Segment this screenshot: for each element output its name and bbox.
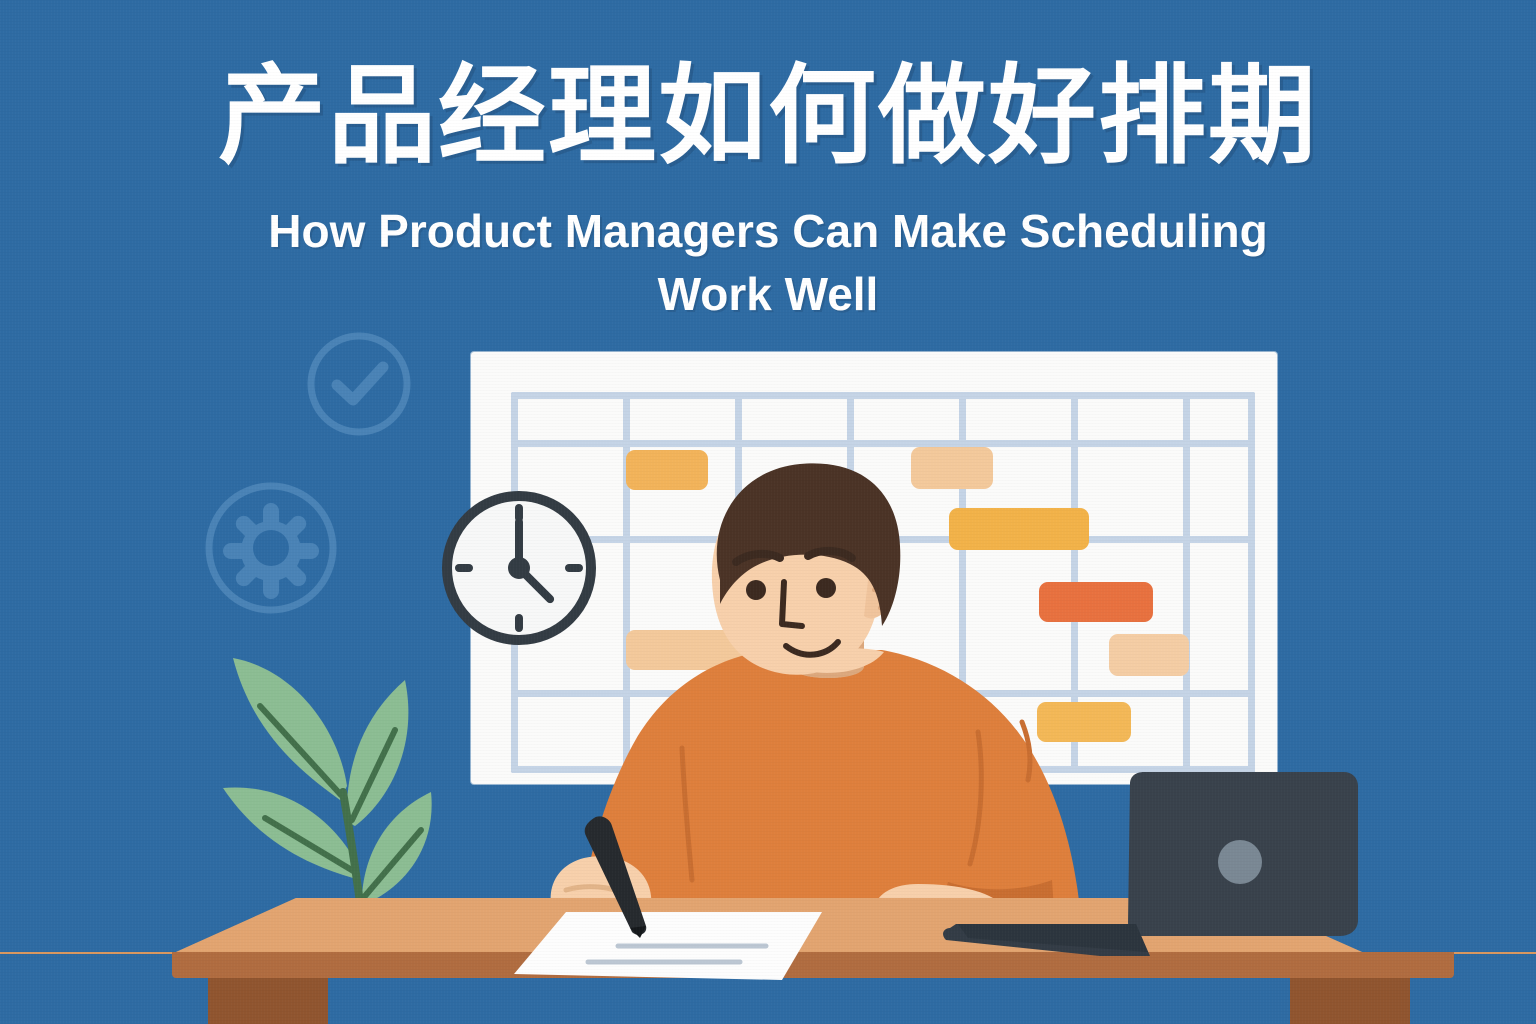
poster-canvas: 产品经理如何做好排期 How Product Managers Can Make… <box>0 0 1536 1024</box>
subtitle-line-2: Work Well <box>150 263 1386 326</box>
desk-leg-right <box>1290 978 1410 1024</box>
grid-col-line <box>1183 392 1190 773</box>
page-subtitle-english: How Product Managers Can Make Scheduling… <box>150 200 1386 327</box>
desk-plant <box>205 640 470 930</box>
grid-col-line <box>1248 392 1255 773</box>
check-circle-icon <box>303 328 415 440</box>
page-title-chinese: 产品经理如何做好排期 <box>0 58 1536 175</box>
pen[interactable] <box>560 810 670 940</box>
desk-leg-left <box>208 978 328 1024</box>
laptop-logo-icon <box>1218 840 1262 884</box>
laptop[interactable] <box>940 770 1390 970</box>
gear-circle-icon <box>197 474 345 622</box>
subtitle-line-1: How Product Managers Can Make Scheduling <box>150 200 1386 263</box>
